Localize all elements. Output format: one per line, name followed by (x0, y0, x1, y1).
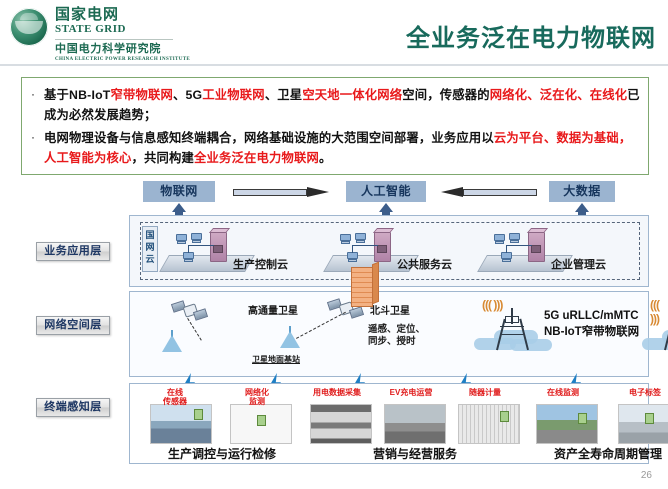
cloud-name: 企业管理云 (551, 256, 606, 272)
page-number: 26 (641, 470, 652, 481)
satellite-label-highthroughput: 高通量卫星 (248, 302, 298, 317)
pc-icon (355, 233, 366, 243)
terminal-tag-online-monitoring: 在线监测 (532, 388, 594, 397)
bullet-seg: 、卫星 (265, 88, 303, 102)
terminal-tag-device-metering: 随器计量 (454, 388, 516, 397)
ground-station-label: 卫星地面基站 (252, 354, 300, 365)
bullet-seg: ，共同构建 (131, 151, 194, 165)
cloud-name: 生产控制云 (233, 256, 288, 272)
terminal-tag-ev-charging: EV充电运营 (380, 388, 442, 397)
sensor-chip-icon (194, 409, 203, 420)
institute-name-cn: 中国电力科学研究院 (55, 43, 190, 56)
bullet-seg-highlight: 窄带物联网 (111, 88, 174, 102)
server-icon (210, 232, 227, 262)
bullet-seg: 电网物理设备与信息感知终端耦合，网络基础设施的大范围空间部署，业务应用以 (44, 131, 494, 145)
state-grid-emblem-icon (10, 8, 48, 46)
bullet-text: 基于NB-IoT窄带物联网、5G工业物联网、卫星空天地一体化网络空间，传感器的网… (44, 85, 640, 125)
summary-text-box: · 基于NB-IoT窄带物联网、5G工业物联网、卫星空天地一体化网络空间，传感器… (21, 77, 649, 175)
bullet-marker: · (28, 85, 38, 125)
sensor-chip-icon (500, 411, 509, 422)
firewall-icon (351, 263, 379, 307)
terminal-group-asset: 在线监测 电子标签 资产全寿命周期管理 (526, 390, 668, 446)
network-tech-line-2: NB-IoT窄带物联网 (544, 324, 639, 340)
org-name-cn: 国家电网 (55, 7, 190, 23)
terminal-tag-network-monitor: 网络化 监测 (226, 388, 288, 406)
arrow-left-icon (441, 187, 537, 198)
radio-wave-icon: ((( ))) (650, 298, 659, 326)
bullet-item: · 基于NB-IoT窄带物联网、5G工业物联网、卫星空天地一体化网络空间，传感器… (28, 85, 640, 125)
badge-ai: 人工智能 (346, 181, 426, 202)
server-icon (374, 232, 391, 262)
pc-icon (183, 252, 194, 262)
bullet-seg-highlight: 空天地一体化网络 (302, 88, 402, 102)
architecture-diagram: 物联网 人工智能 大数据 业务应用层 网络空间层 终端感知层 国网云 生产控制云 (21, 179, 649, 464)
pc-icon (501, 252, 512, 262)
ground-antenna-icon (162, 330, 182, 352)
cloud-node-public-service: 公共服务云 (328, 230, 450, 276)
terminal-caption-production: 生产调控与运行检修 (142, 445, 302, 462)
network-tech-line-1: 5G uRLLC/mMTC (544, 308, 639, 324)
header-divider (0, 64, 668, 66)
terminal-group-production: 在线 传感器 网络化 监测 生产调控与运行检修 (142, 390, 302, 446)
cloud-node-production: 生产控制云 (164, 230, 286, 276)
terminal-group-marketing: 用电数据采集 EV充电运营 随器计量 营销与经营服务 (306, 390, 524, 446)
state-grid-logo: 国家电网 STATE GRID 中国电力科学研究院 CHINA ELECTRIC… (10, 6, 190, 64)
sensor-chip-icon (645, 413, 654, 424)
cloud-node-enterprise: 企业管理云 (482, 230, 604, 276)
page-title: 全业务泛在电力物联网 (406, 18, 656, 53)
terminal-tag-online-sensor: 在线 传感器 (144, 388, 206, 406)
sensor-chip-icon (257, 415, 266, 426)
business-application-panel: 国网云 生产控制云 公共服务云 (129, 215, 649, 287)
terminal-caption-asset: 资产全寿命周期管理 (526, 445, 668, 462)
layer-label-terminal: 终端感知层 (36, 398, 110, 417)
terminal-photo-network-monitor (230, 404, 292, 444)
terminal-photo-electronic-tag (618, 404, 668, 444)
cell-tower-icon (660, 306, 668, 350)
cell-tower-icon (492, 306, 532, 350)
pc-icon (176, 234, 187, 244)
badge-bigdata: 大数据 (549, 181, 615, 202)
terminal-photo-online-sensor (150, 404, 212, 444)
layer-label-business: 业务应用层 (36, 242, 110, 261)
server-icon (528, 232, 545, 262)
terminal-tag-meter-collection: 用电数据采集 (306, 388, 368, 397)
network-tech-label: 5G uRLLC/mMTC NB-IoT窄带物联网 (544, 308, 639, 340)
badge-iot: 物联网 (143, 181, 215, 202)
satellite-functions: 遥感、定位、 同步、授时 (368, 324, 425, 348)
logo-text-block: 国家电网 STATE GRID 中国电力科学研究院 CHINA ELECTRIC… (55, 6, 190, 64)
terminal-caption-marketing: 营销与经营服务 (306, 445, 524, 462)
layer-label-network: 网络空间层 (36, 316, 110, 335)
bullet-seg-highlight: 全业务泛在电力物联网 (194, 151, 319, 165)
bullet-seg-highlight: 工业物联网 (202, 88, 265, 102)
terminal-photo-ev-charging (384, 404, 446, 444)
org-name-en: STATE GRID (55, 23, 190, 36)
terminal-photo-meter-collection (310, 404, 372, 444)
institute-name-en: CHINA ELECTRIC POWER RESEARCH INSTITUTE (55, 56, 190, 64)
pc-icon (340, 234, 351, 244)
bullet-seg: 空间，传感器的 (402, 88, 489, 102)
gw-cloud-label: 国网云 (142, 226, 158, 272)
sensor-chip-icon (578, 413, 587, 424)
arrow-right-icon (233, 187, 329, 198)
pc-icon (509, 233, 520, 243)
pc-icon (347, 252, 358, 262)
pc-icon (494, 234, 505, 244)
bullet-seg-highlight: 网络化、泛在化、在线化 (490, 88, 627, 102)
terminal-photo-online-monitoring (536, 404, 598, 444)
cloud-name: 公共服务云 (397, 256, 452, 272)
bullet-marker: · (28, 128, 38, 168)
bullet-text: 电网物理设备与信息感知终端耦合，网络基础设施的大范围空间部署，业务应用以云为平台… (44, 128, 640, 168)
terminal-perception-panel: 在线 传感器 网络化 监测 生产调控与运行检修 用电数据采集 EV充电运营 (129, 383, 649, 464)
bullet-seg: 。 (319, 151, 332, 165)
bullet-seg: 、5G (173, 88, 202, 102)
bullet-seg: 基于NB-IoT (44, 88, 111, 102)
pc-icon (191, 233, 202, 243)
network-space-panel: 高通量卫星 北斗卫星 遥感、定位、 同步、授时 卫星地面基站 ((( ))) (… (129, 291, 649, 377)
slide-header: 国家电网 STATE GRID 中国电力科学研究院 CHINA ELECTRIC… (0, 0, 668, 66)
terminal-tag-electronic-tag: 电子标签 (614, 388, 668, 397)
concept-badge-row: 物联网 人工智能 大数据 (21, 179, 649, 210)
bullet-item: · 电网物理设备与信息感知终端耦合，网络基础设施的大范围空间部署，业务应用以云为… (28, 128, 640, 168)
logo-divider (55, 39, 173, 40)
terminal-photo-device-metering (458, 404, 520, 444)
